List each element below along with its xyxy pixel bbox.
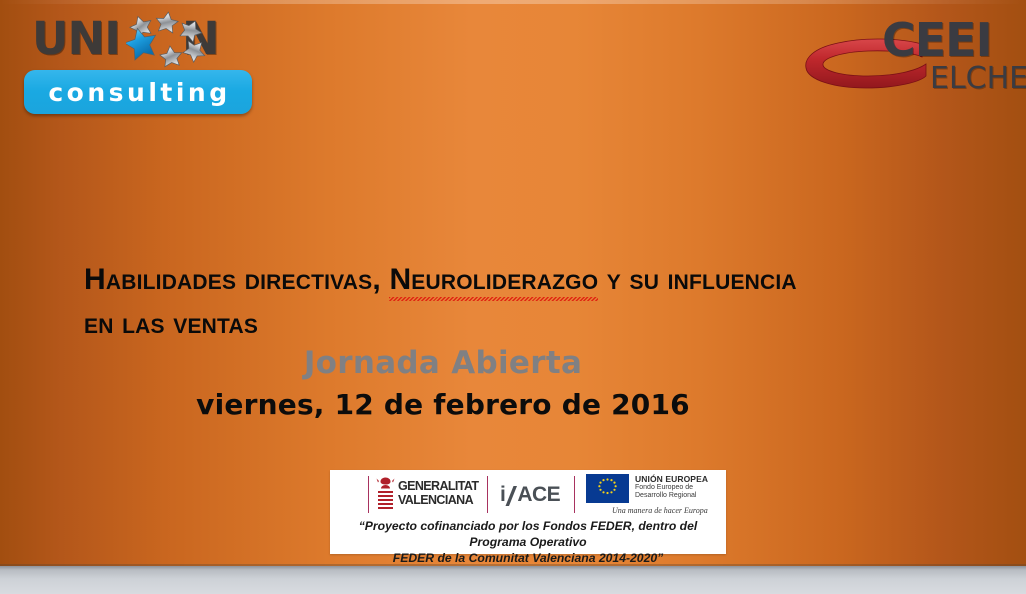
slide-bottom-bar xyxy=(0,566,1026,594)
consulting-pill: consulting xyxy=(24,70,252,114)
star-top xyxy=(155,11,180,34)
union-consulting-logo: UNIN xyxy=(14,8,264,120)
union-wordmark-prefix: UNI xyxy=(32,12,120,65)
ivace-slash-svg xyxy=(505,486,517,506)
title-part-2: y su influencia xyxy=(598,263,797,296)
ivace-suffix: ACE xyxy=(517,483,560,507)
ivace-logo: i ACE xyxy=(500,483,560,507)
generalitat-line-1: GENERALITAT xyxy=(398,479,478,493)
eu-flag-row: UNIÓN EUROPEA Fondo Europeo de Desarroll… xyxy=(586,474,708,503)
eu-title: UNIÓN EUROPEA xyxy=(635,474,708,484)
eu-flag-icon xyxy=(586,474,629,503)
star-ring-icon xyxy=(126,10,218,72)
slide-top-highlight xyxy=(0,0,1026,4)
star-ring-svg xyxy=(126,10,218,72)
eu-flag-svg xyxy=(586,474,629,503)
european-union-logo-block: UNIÓN EUROPEA Fondo Europeo de Desarroll… xyxy=(586,474,708,515)
star-bottom xyxy=(159,45,183,67)
ivace-slash-icon xyxy=(505,486,517,506)
funding-caption-line-1: “Proyecto cofinanciado por los Fondos FE… xyxy=(336,518,720,550)
event-type-label: Jornada Abierta xyxy=(0,345,1026,381)
eu-subtitle-line-1: Fondo Europeo de xyxy=(635,484,708,492)
consulting-label: consulting xyxy=(45,78,230,107)
separator-line-2 xyxy=(487,476,488,513)
slide-title-line-2: en las ventas xyxy=(84,302,944,346)
funding-logos-row: GENERALITAT VALENCIANA i ACE xyxy=(330,470,726,518)
funding-caption: “Proyecto cofinanciado por los Fondos FE… xyxy=(330,518,726,566)
ceei-location-label: ELCHE xyxy=(930,64,1026,94)
eu-text-block: UNIÓN EUROPEA Fondo Europeo de Desarroll… xyxy=(635,474,708,500)
separator-line-3 xyxy=(574,476,575,513)
title-part-1: Habilidades directivas, xyxy=(84,263,389,296)
eu-subtitle-line-2: Desarrollo Regional xyxy=(635,492,708,500)
star-right xyxy=(180,35,210,65)
slide-title-line-1: Habilidades directivas, Neuroliderazgo y… xyxy=(84,258,944,302)
generalitat-line-2: VALENCIANA xyxy=(398,493,478,507)
slide-title-block: Habilidades directivas, Neuroliderazgo y… xyxy=(84,258,944,346)
funding-banner: GENERALITAT VALENCIANA i ACE xyxy=(330,470,726,554)
ceei-elche-logo: CEEI ELCHE xyxy=(798,12,1020,108)
title-misspelled-word: Neuroliderazgo xyxy=(389,258,598,302)
ceei-wordmark: CEEI xyxy=(882,17,992,63)
generalitat-valenciana-logo: GENERALITAT VALENCIANA xyxy=(376,476,478,510)
separator-line-1 xyxy=(368,476,369,513)
event-date-label: viernes, 12 de febrero de 2016 xyxy=(0,388,1026,421)
generalitat-bat-crest-icon xyxy=(376,476,395,510)
eu-tagline: Una manera de hacer Europa xyxy=(612,506,708,515)
star-top-right xyxy=(177,16,206,44)
generalitat-text: GENERALITAT VALENCIANA xyxy=(398,479,478,507)
presentation-slide: UNIN xyxy=(0,0,1026,594)
